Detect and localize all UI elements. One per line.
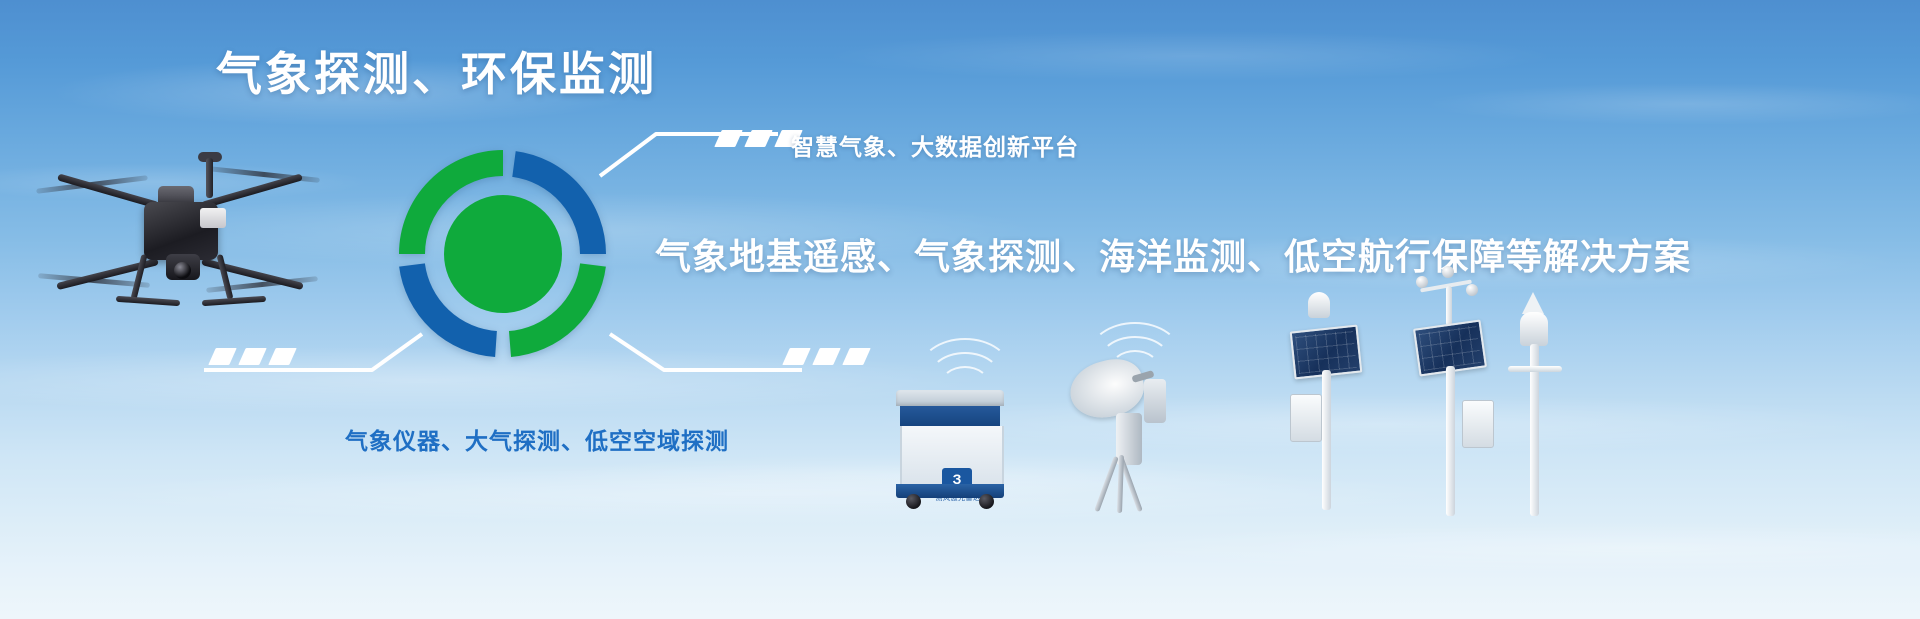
- ring-graphic: [392, 143, 614, 365]
- cart-front-face: З 测风激光雷达: [900, 426, 1004, 484]
- drone-photo: [40, 150, 310, 350]
- drone-landing-skid: [202, 296, 266, 306]
- drone-antenna-mast: [206, 158, 213, 198]
- drone-propeller: [208, 166, 320, 183]
- station-equipment-box: [1290, 394, 1322, 442]
- cart-window-panel: [900, 406, 1000, 426]
- station-crossarm: [1508, 366, 1562, 372]
- drone-arm: [201, 173, 303, 208]
- anemometer-cup: [1416, 276, 1428, 288]
- cart-roof: [896, 390, 1004, 406]
- drone-camera-lens: [174, 262, 191, 279]
- dash-marks-top-right: [718, 130, 799, 147]
- dash-marks-bottom-left: [212, 348, 293, 365]
- cart-wheel: [979, 494, 994, 509]
- ring-core-circle: [444, 195, 562, 313]
- lidar-cart-photo: З 测风激光雷达: [894, 390, 1006, 508]
- rain-gauge-body: [1520, 312, 1548, 346]
- solar-station-1: [1286, 300, 1406, 530]
- anemometer-cup: [1442, 266, 1454, 278]
- drone-leg: [131, 254, 148, 300]
- callout-text-top-right: 智慧气象、大数据创新平台: [791, 128, 1079, 162]
- banner-stage: 气象探测、环保监测 智慧气象、大数据创新平台 气象地基: [0, 0, 1920, 619]
- rain-gauge-funnel: [1522, 292, 1544, 314]
- dash-marks-bottom-right: [786, 348, 867, 365]
- drone-landing-skid: [116, 296, 180, 306]
- station-pole: [1446, 366, 1455, 516]
- anemometer-cup: [1466, 284, 1478, 296]
- tripod-leg: [1094, 456, 1119, 512]
- solar-station-3: [1500, 292, 1620, 522]
- station-sensor-head: [1308, 292, 1330, 318]
- anemometer-mast: [1446, 286, 1452, 326]
- station-pole: [1322, 370, 1331, 510]
- callout-text-main: 气象地基遥感、气象探测、海洋监测、低空航行保障等解决方案: [655, 228, 1691, 280]
- drone-leg: [217, 254, 234, 300]
- station-equipment-box: [1462, 400, 1494, 448]
- callout-text-bottom-left: 气象仪器、大气探测、低空空域探测: [345, 422, 729, 456]
- drone-side-module: [200, 208, 226, 228]
- dish-mount-box: [1144, 379, 1166, 423]
- tripod-leg: [1117, 455, 1124, 513]
- cart-wheel: [906, 494, 921, 509]
- dish-antenna-photo: [1070, 355, 1200, 515]
- page-title: 气象探测、环保监测: [216, 48, 657, 101]
